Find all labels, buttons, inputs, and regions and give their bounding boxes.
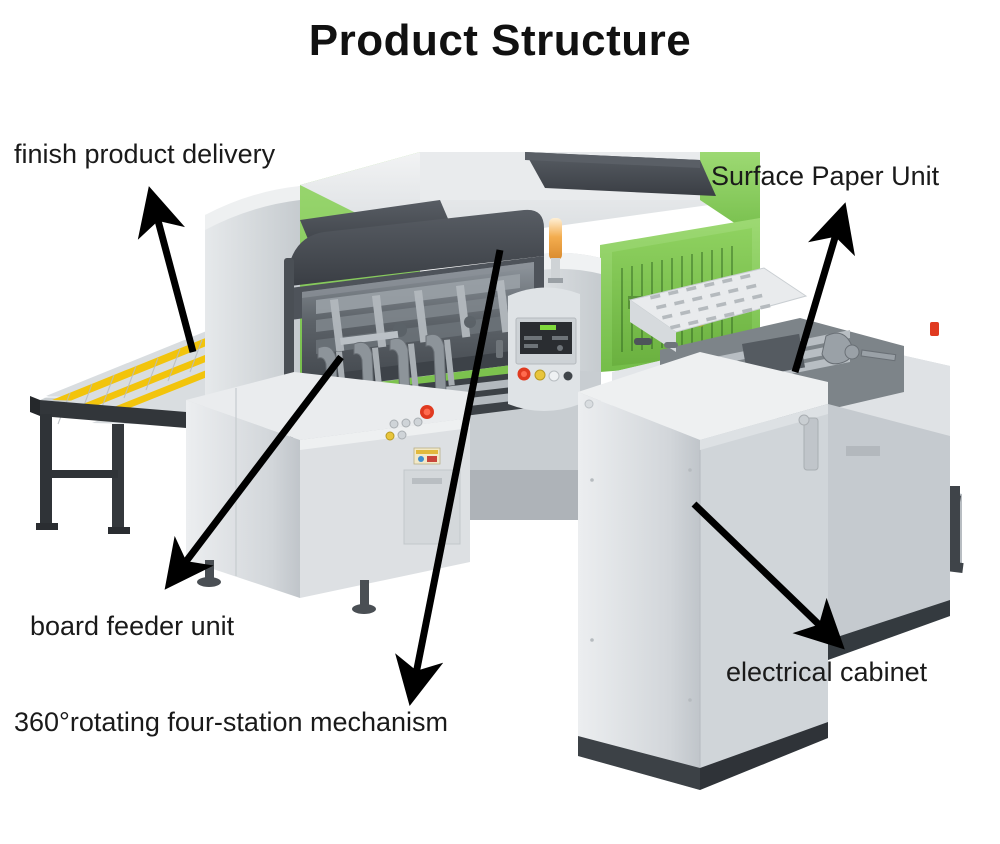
emergency-stop-button-main[interactable] <box>518 368 531 381</box>
white-button[interactable] <box>549 371 559 381</box>
diagram-canvas: Product Structure <box>0 0 1000 844</box>
annotation-electrical-cabinet: electrical cabinet <box>726 658 927 688</box>
electrical-cabinet <box>578 352 828 790</box>
arrow-finish-product-delivery <box>152 198 193 352</box>
annotation-surface-paper-unit: Surface Paper Unit <box>711 162 939 192</box>
emergency-stop-button-feeder[interactable] <box>420 405 434 419</box>
black-button[interactable] <box>564 372 573 381</box>
warning-sticker <box>414 448 440 464</box>
annotation-finish-product-delivery: finish product delivery <box>14 140 275 170</box>
cabinet-handle[interactable] <box>804 418 818 470</box>
right-lower-skirt <box>828 404 950 660</box>
amber-button[interactable] <box>535 370 545 380</box>
indicator-light <box>930 322 939 336</box>
board-feeder-cabinet <box>186 372 470 614</box>
annotation-board-feeder-unit: board feeder unit <box>30 612 234 642</box>
control-panel[interactable] <box>496 287 580 411</box>
annotation-rotating-four-station: 360°rotating four-station mechanism <box>14 708 448 738</box>
